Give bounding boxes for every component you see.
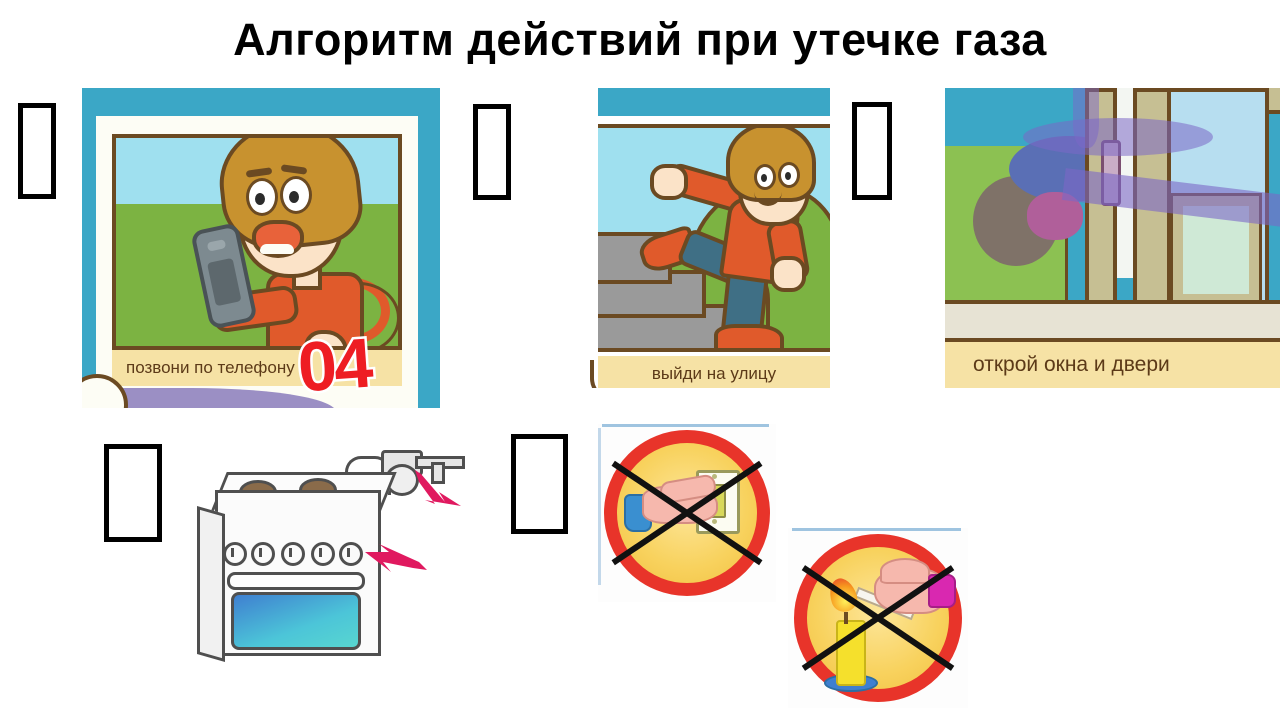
running-boy-front-fist [770,256,806,292]
stove-knob-3[interactable] [281,542,305,566]
panel-do-not-light-fire [788,528,968,708]
scene-stairs [598,124,830,352]
sign-left-rule [598,428,601,585]
pink-arrow-icon-knob [363,540,429,578]
running-boy-back-fist [650,164,688,200]
panel-turn-off-gas-stove [195,450,470,675]
caption-band-window: открой окна и двери [945,338,1280,388]
answer-box-5[interactable] [511,434,568,534]
running-boy-eye-left [754,164,776,190]
window-sill [945,300,1280,340]
stove-knob-2[interactable] [251,542,275,566]
emergency-number-04: 04 [296,328,373,403]
pink-arrow-icon-valve [409,468,465,510]
stove-knob-row [219,542,371,564]
sign-top-rule [792,528,961,531]
stove-knob-4[interactable] [311,542,335,566]
stove-side-panel [197,506,225,662]
stove-knob-1[interactable] [223,542,247,566]
panel-go-outside: выйди на улицу [590,88,834,388]
phone-keypad [207,258,242,306]
slide-canvas: Алгоритм действий при утечке газа [0,0,1280,720]
top-sky-strip [598,88,830,116]
panel-call-by-phone: позвони по телефону [82,88,440,408]
gas-cloud-icon-1 [1023,118,1213,156]
answer-box-1[interactable] [18,103,56,199]
panel-open-windows-doors: открой окна и двери [945,88,1280,388]
candle-wick [844,612,848,624]
answer-box-2[interactable] [473,104,511,200]
hand-fingers [880,558,930,584]
panel-do-not-use-light-switch [598,424,776,602]
running-boy-front-shoe [714,324,784,352]
sign-top-rule [602,424,769,427]
phone-speaker [207,239,226,252]
answer-box-4[interactable] [104,444,162,542]
running-boy-eye-right [778,162,800,188]
decor-swirl [590,360,646,388]
boy-eye-left [246,178,278,216]
caption-text-phone: позвони по телефону [126,358,295,378]
oven-handle[interactable] [227,572,365,590]
boy-eye-right [280,176,312,214]
switch-screw-bottom [712,519,717,524]
caption-text-window: открой окна и двери [973,353,1170,377]
caption-text-street: выйди на улицу [652,364,776,384]
page-title: Алгоритм действий при утечке газа [0,14,1280,66]
oven-door-window [231,592,361,650]
stove-knob-5[interactable] [339,542,363,566]
boy-open-mouth [252,220,304,258]
answer-box-3[interactable] [852,102,892,200]
